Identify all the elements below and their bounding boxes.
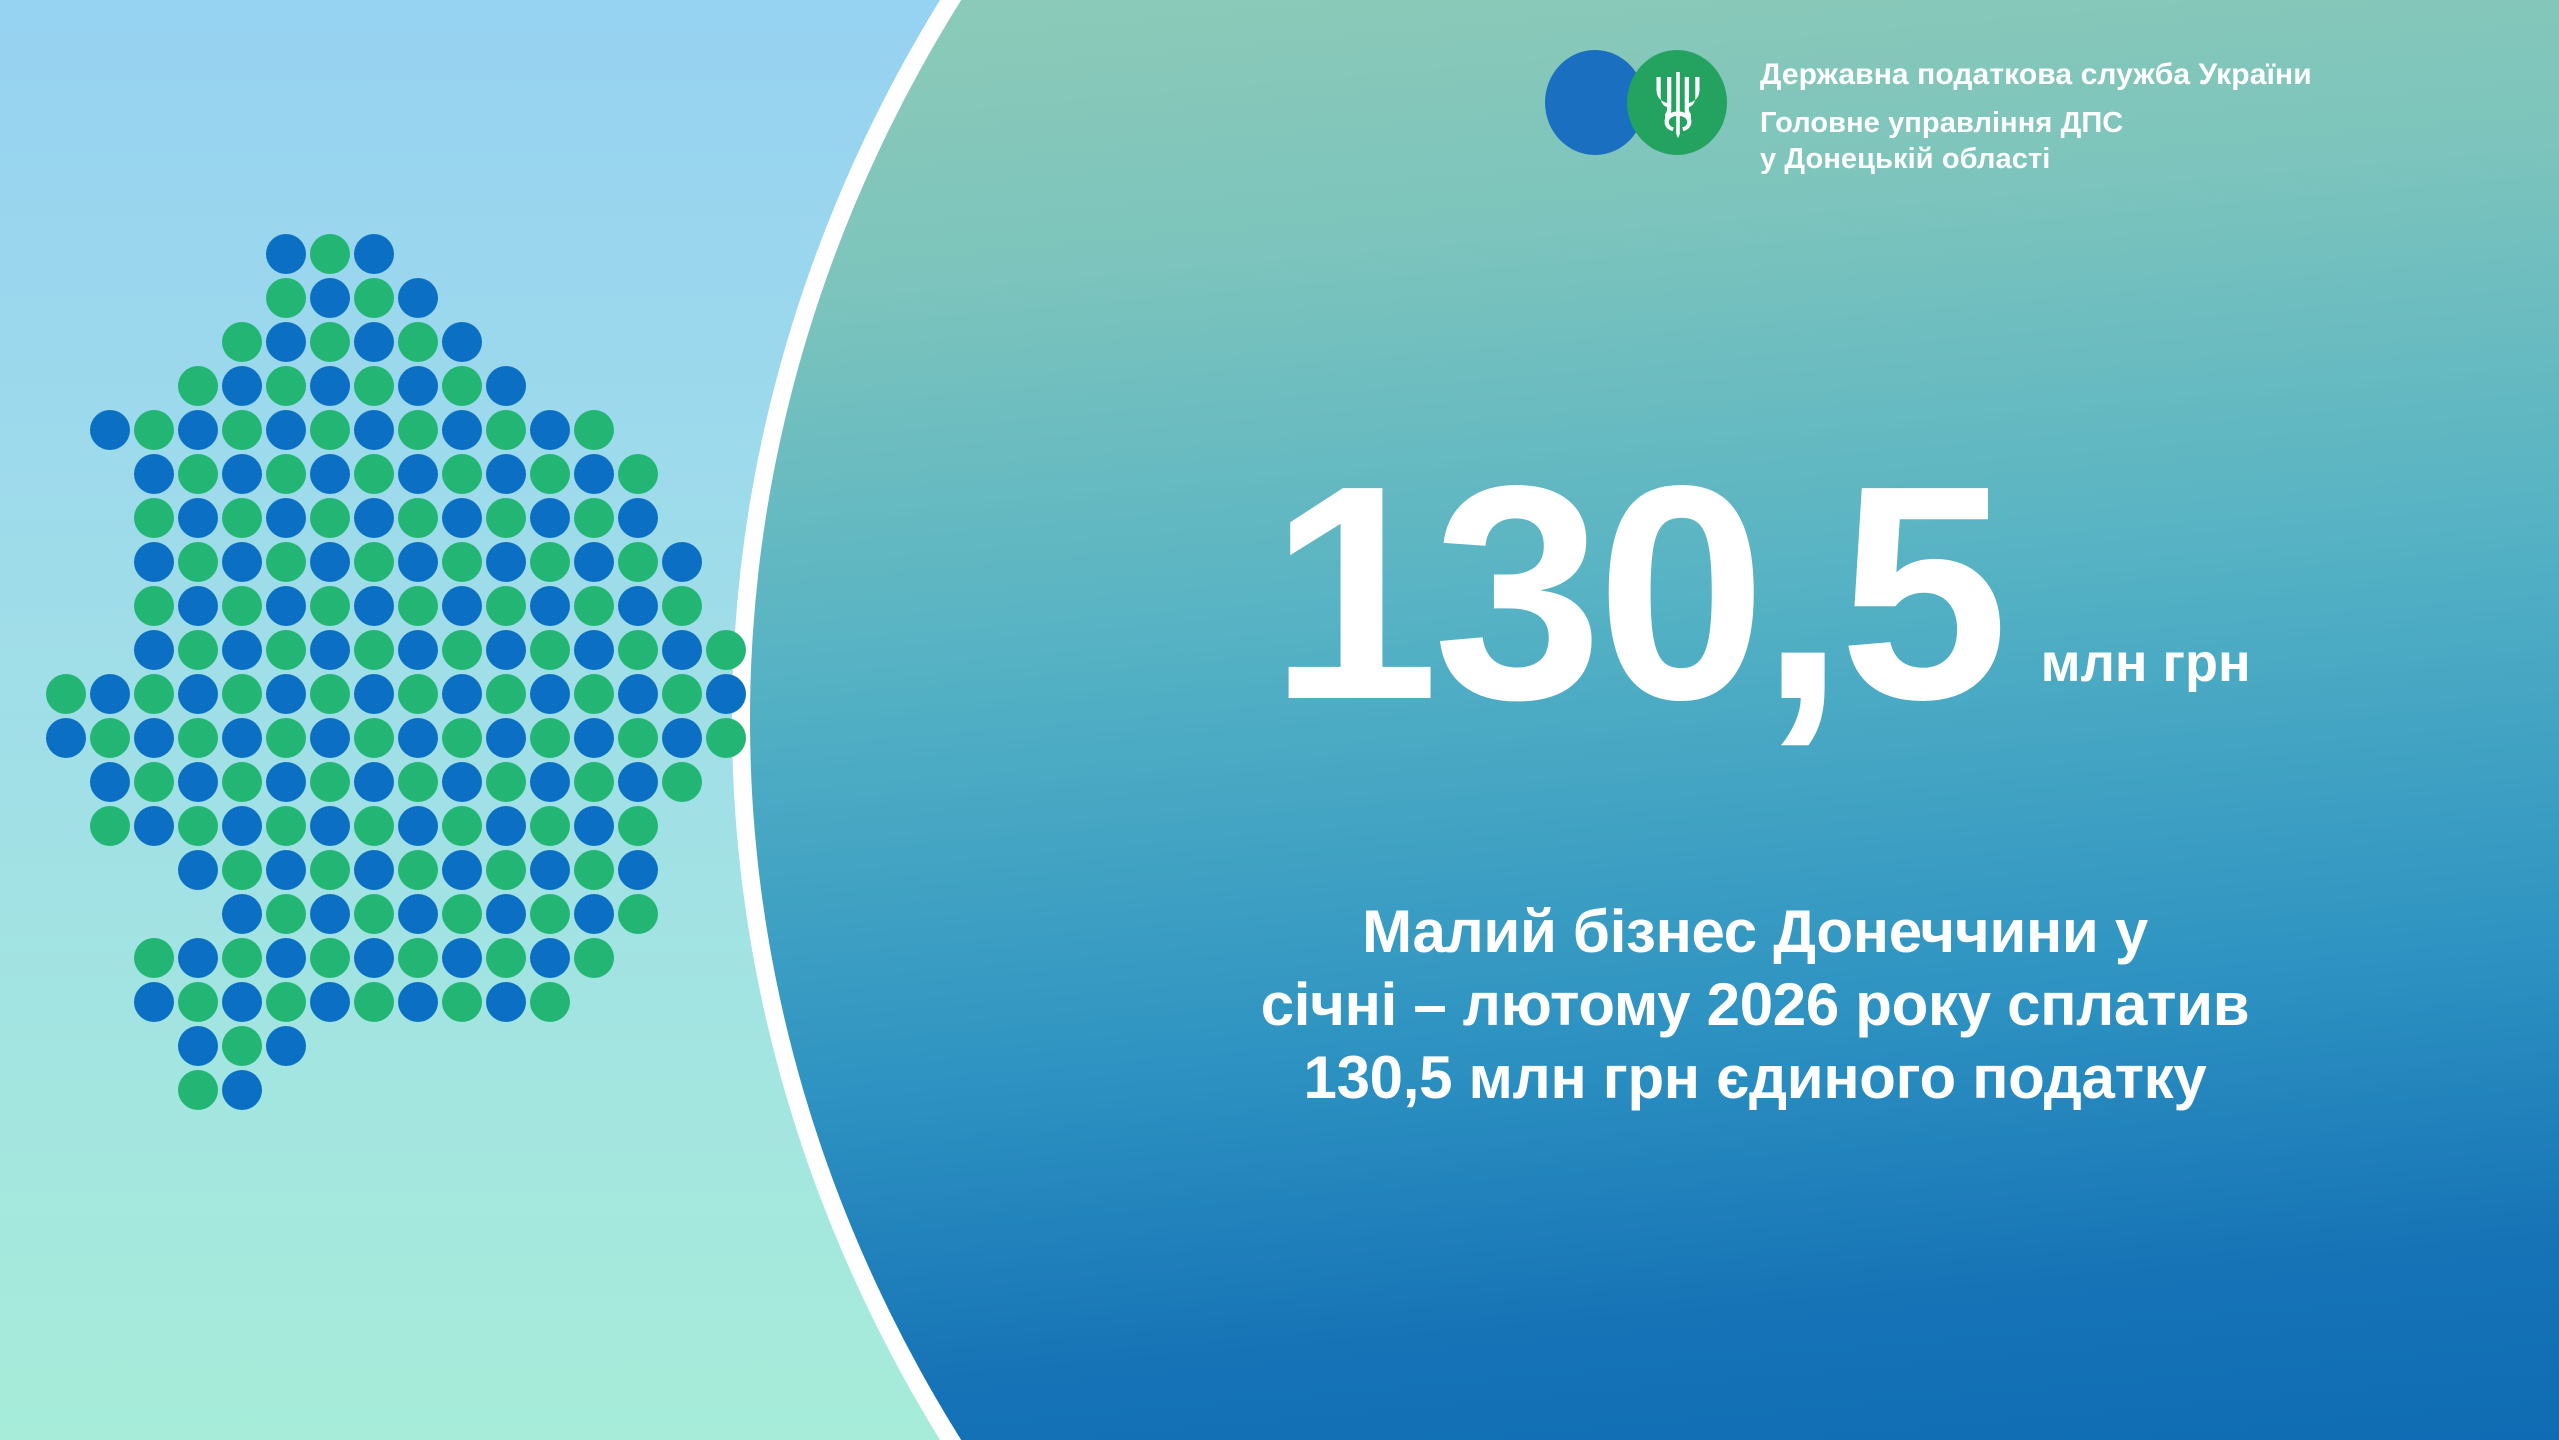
map-dot [134, 762, 174, 802]
map-dot [486, 894, 526, 934]
map-dot [310, 674, 350, 714]
map-dot [706, 674, 746, 714]
map-dot [178, 586, 218, 626]
map-dot [486, 410, 526, 450]
map-dot [222, 366, 262, 406]
map-dot [398, 542, 438, 582]
map-dot [354, 410, 394, 450]
map-dot [266, 806, 306, 846]
map-dot [706, 630, 746, 670]
map-dot [266, 1026, 306, 1066]
map-dot [46, 674, 86, 714]
map-dot [618, 454, 658, 494]
map-dot [662, 674, 702, 714]
map-dot [618, 586, 658, 626]
map-dot [662, 630, 702, 670]
map-dot [442, 630, 482, 670]
map-dot [222, 1026, 262, 1066]
map-dot [354, 322, 394, 362]
map-dot [46, 718, 86, 758]
map-dot [486, 586, 526, 626]
map-dot [90, 806, 130, 846]
map-dot [398, 674, 438, 714]
map-dot [178, 806, 218, 846]
map-dot [398, 410, 438, 450]
caption-line-3: 130,5 млн грн єдиного податку [1020, 1041, 2490, 1114]
map-dot [530, 410, 570, 450]
map-dot [486, 542, 526, 582]
map-dot [662, 542, 702, 582]
ukraine-trident-icon [1655, 70, 1701, 138]
map-dot [442, 498, 482, 538]
map-dot [222, 762, 262, 802]
map-dot [442, 806, 482, 846]
map-dot [266, 982, 306, 1022]
map-dot [398, 806, 438, 846]
map-dot [398, 894, 438, 934]
map-dot [222, 410, 262, 450]
map-dot [574, 850, 614, 890]
map-dot [354, 234, 394, 274]
logo-line-agency: Державна податкова служба України [1760, 56, 2312, 93]
map-dot [222, 938, 262, 978]
map-dot [354, 894, 394, 934]
map-dot [178, 630, 218, 670]
map-dot [398, 322, 438, 362]
map-dot [442, 366, 482, 406]
map-dot [398, 850, 438, 890]
map-dot [354, 498, 394, 538]
figure-unit: млн грн [2041, 636, 2251, 690]
map-dot [398, 586, 438, 626]
map-dot [618, 850, 658, 890]
map-dot [618, 498, 658, 538]
map-dot [134, 938, 174, 978]
map-dot [266, 586, 306, 626]
map-dot [574, 410, 614, 450]
map-dot [486, 674, 526, 714]
map-dot [90, 718, 130, 758]
map-dot [442, 454, 482, 494]
map-dot [486, 630, 526, 670]
map-dot [442, 542, 482, 582]
map-dot [398, 762, 438, 802]
map-dot [618, 718, 658, 758]
map-dot [310, 454, 350, 494]
map-dot [354, 454, 394, 494]
map-dot [266, 850, 306, 890]
map-dot [662, 586, 702, 626]
map-dot [442, 982, 482, 1022]
map-dot [90, 674, 130, 714]
map-dot [442, 850, 482, 890]
map-dot [178, 454, 218, 494]
map-dot [530, 762, 570, 802]
map-dot [354, 938, 394, 978]
map-dot [310, 806, 350, 846]
dot-map-svg [88, 232, 1008, 1192]
map-dot [398, 630, 438, 670]
map-dot [486, 366, 526, 406]
map-dot [486, 718, 526, 758]
map-dot [222, 850, 262, 890]
map-dot [530, 674, 570, 714]
map-dot [530, 894, 570, 934]
map-dot [310, 894, 350, 934]
map-dot [618, 674, 658, 714]
map-dot [178, 938, 218, 978]
map-dot [310, 586, 350, 626]
map-dot [266, 322, 306, 362]
map-dot [398, 938, 438, 978]
logo-marks [1545, 50, 1730, 155]
map-dot [486, 982, 526, 1022]
infographic-canvas: Державна податкова служба України Головн… [0, 0, 2559, 1440]
map-dot [442, 762, 482, 802]
map-dot [310, 630, 350, 670]
map-dot [398, 454, 438, 494]
map-dot [354, 982, 394, 1022]
map-dot [178, 674, 218, 714]
map-dot [134, 674, 174, 714]
map-dot [706, 718, 746, 758]
map-dot [530, 630, 570, 670]
headline-figure: 130,5 млн грн [1050, 468, 2470, 718]
map-dot [574, 454, 614, 494]
map-dot [530, 542, 570, 582]
map-dot [442, 674, 482, 714]
map-dot [222, 586, 262, 626]
map-dot [310, 850, 350, 890]
donetsk-region-dot-map [88, 232, 1008, 1192]
logo-line-department: Головне управління ДПС [1760, 105, 2312, 141]
map-dot [266, 454, 306, 494]
map-dot [178, 718, 218, 758]
map-dot [398, 366, 438, 406]
map-dot [618, 894, 658, 934]
map-dot [266, 410, 306, 450]
map-dot [442, 938, 482, 978]
map-dot [310, 234, 350, 274]
map-dot [310, 762, 350, 802]
map-dot [662, 718, 702, 758]
map-dot [618, 762, 658, 802]
map-dot [574, 938, 614, 978]
map-dot [222, 982, 262, 1022]
map-dot [134, 542, 174, 582]
map-dot [442, 894, 482, 934]
map-dot [486, 850, 526, 890]
map-dot [178, 1070, 218, 1110]
map-dot [530, 850, 570, 890]
map-dot [530, 938, 570, 978]
map-dot [222, 322, 262, 362]
map-dot [90, 410, 130, 450]
map-dot [574, 718, 614, 758]
map-dot [486, 806, 526, 846]
map-dot [266, 234, 306, 274]
map-dot [442, 718, 482, 758]
map-dot [310, 498, 350, 538]
map-dot [266, 498, 306, 538]
map-dot [222, 1070, 262, 1110]
map-dot [266, 542, 306, 582]
map-dot [354, 586, 394, 626]
map-dot [222, 454, 262, 494]
map-dot [266, 630, 306, 670]
map-dot [310, 322, 350, 362]
map-dot [530, 718, 570, 758]
map-dot [618, 806, 658, 846]
map-dot [266, 278, 306, 318]
map-dot [266, 894, 306, 934]
map-dot [222, 674, 262, 714]
map-dot [222, 718, 262, 758]
map-dot [354, 850, 394, 890]
map-dot [618, 542, 658, 582]
map-dot [662, 762, 702, 802]
map-dot [310, 410, 350, 450]
map-dot [310, 278, 350, 318]
map-dot [354, 674, 394, 714]
map-dot [398, 718, 438, 758]
map-dot [574, 806, 614, 846]
map-dot [222, 894, 262, 934]
map-dot [222, 806, 262, 846]
map-dot [134, 454, 174, 494]
map-dot [574, 762, 614, 802]
map-dot [134, 982, 174, 1022]
map-dot [310, 982, 350, 1022]
caption-line-1: Малий бізнес Донеччини у [1020, 895, 2490, 968]
map-dot [574, 586, 614, 626]
map-dot [134, 630, 174, 670]
map-dot [222, 498, 262, 538]
map-dot [178, 366, 218, 406]
logo-text-lines: Державна податкова служба України Головн… [1760, 50, 2312, 177]
map-dot [178, 542, 218, 582]
map-dot [486, 762, 526, 802]
map-dot [178, 1026, 218, 1066]
map-dot [354, 542, 394, 582]
map-dot [354, 366, 394, 406]
map-dot [178, 410, 218, 450]
dps-logo-block: Державна податкова служба України Головн… [1545, 50, 2312, 177]
map-dot [310, 542, 350, 582]
map-dot [310, 366, 350, 406]
map-dot [398, 278, 438, 318]
map-dot [486, 938, 526, 978]
map-dot [354, 630, 394, 670]
map-dot [530, 982, 570, 1022]
map-dot [134, 498, 174, 538]
map-dot [134, 586, 174, 626]
map-dot [398, 498, 438, 538]
map-dot [618, 630, 658, 670]
map-dot [134, 718, 174, 758]
map-dot [310, 718, 350, 758]
map-dot [530, 806, 570, 846]
map-dot [574, 674, 614, 714]
map-dot [222, 630, 262, 670]
map-dot [90, 762, 130, 802]
map-dot [486, 454, 526, 494]
map-dot [486, 498, 526, 538]
map-dot [442, 322, 482, 362]
map-dot [354, 806, 394, 846]
map-dot [266, 366, 306, 406]
caption-text: Малий бізнес Донеччини у січні – лютому … [1020, 895, 2490, 1114]
map-dot [266, 762, 306, 802]
map-dot [442, 586, 482, 626]
map-dot [178, 850, 218, 890]
map-dot [398, 982, 438, 1022]
map-dot [134, 806, 174, 846]
logo-line-region: у Донецькій області [1760, 141, 2312, 177]
map-dot [530, 498, 570, 538]
map-dot [574, 894, 614, 934]
map-dot [574, 498, 614, 538]
map-dot [134, 410, 174, 450]
map-dot [310, 938, 350, 978]
map-dot [530, 586, 570, 626]
map-dot [354, 718, 394, 758]
map-dot [442, 410, 482, 450]
map-dot [178, 762, 218, 802]
map-dot [266, 674, 306, 714]
map-dot [178, 498, 218, 538]
map-dot [354, 762, 394, 802]
map-dot [574, 630, 614, 670]
map-dot [266, 718, 306, 758]
map-dot [574, 542, 614, 582]
map-dot [222, 542, 262, 582]
map-dot [266, 938, 306, 978]
figure-value: 130,5 [1269, 468, 2002, 718]
map-dot [178, 982, 218, 1022]
map-dot [530, 454, 570, 494]
map-dot [354, 278, 394, 318]
caption-line-2: січні – лютому 2026 року сплатив [1020, 968, 2490, 1041]
